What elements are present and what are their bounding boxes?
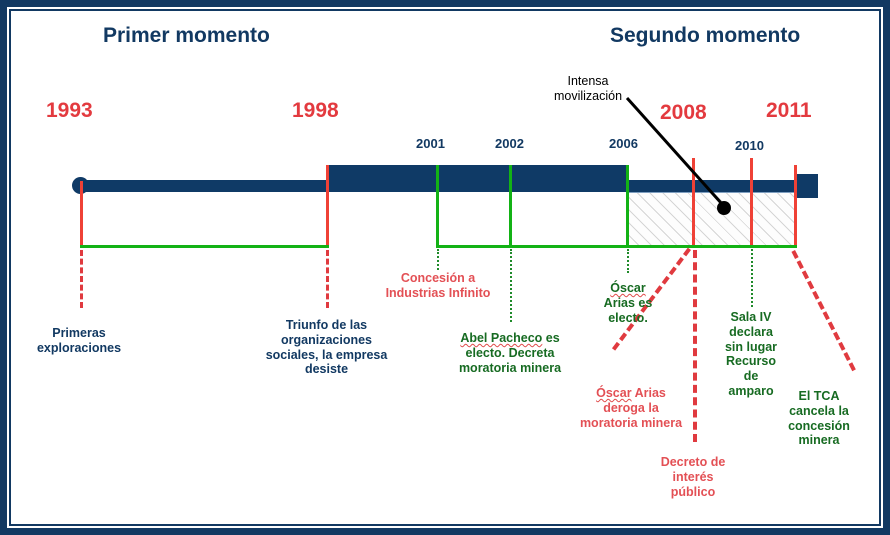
spellcheck-oscar-1: Óscar [610,281,645,295]
caption-concesion-infinito: Concesión a Industrias Infinito [367,271,509,301]
intensa-movilizacion-pointer [0,0,890,535]
caption-oscar-arias-deroga: Óscar Arias deroga la moratoria minera [567,386,695,430]
caption-triunfo-organizaciones: Triunfo de las organizaciones sociales, … [255,318,398,377]
caption-sala-iv: Sala IV declara sin lugar Recurso de amp… [715,310,787,399]
timeline-diagram: Primer momento Segundo momento 1993 1998… [0,0,890,535]
intensa-movilizacion-label: Intensa movilización [538,74,638,104]
caption-decreto-interes-publico: Decreto de interés público [637,455,749,499]
caption-oscar-arias-electo: Óscar Arias es electo. [594,281,662,325]
spellcheck-abel-pacheco: Abel Pacheco [460,331,542,345]
caption-primeras-exploraciones: Primeras exploraciones [19,326,139,356]
caption-tca-cancela: El TCA cancela la concesión minera [781,389,857,448]
caption-abel-pacheco: Abel Pacheco es electo. Decreta moratori… [440,331,580,375]
spellcheck-oscar-2: Óscar [596,386,631,400]
